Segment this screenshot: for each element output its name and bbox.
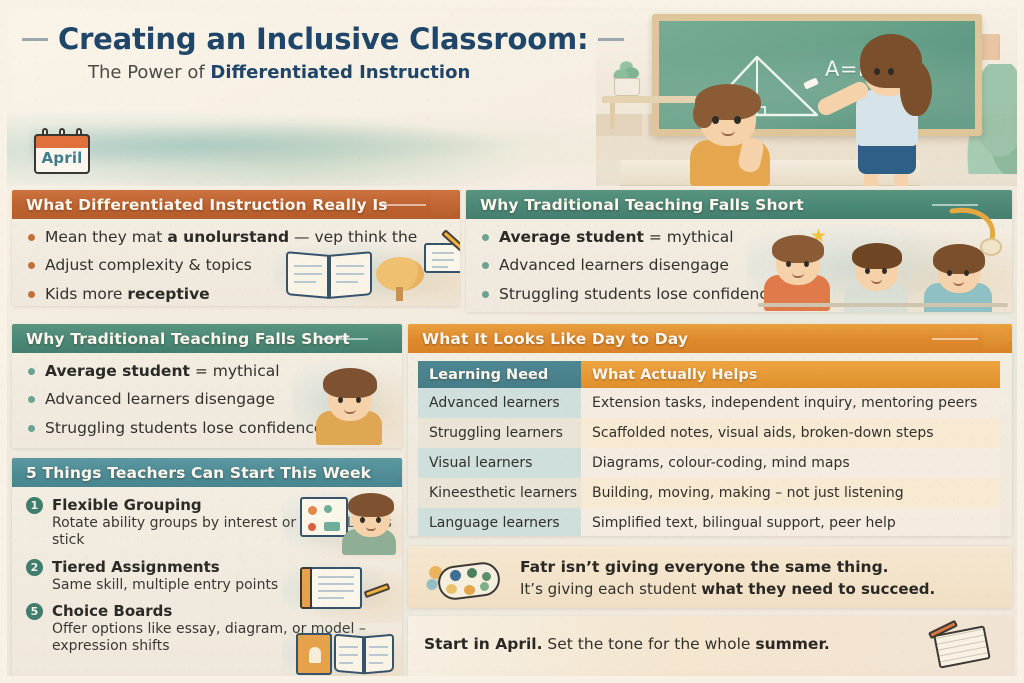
card-why-traditional-top: Why Traditional Teaching Falls Short Ave…: [466, 190, 1012, 312]
bullet-item: Advanced learners disengage: [482, 256, 1012, 274]
step-description: Same skill, multiple entry points: [52, 577, 402, 594]
bullet-item: Kids more receptive: [28, 285, 460, 303]
paint-palette-icon: [426, 558, 504, 602]
header-rule: [380, 204, 426, 206]
cell-learning-need: Language learners: [418, 508, 581, 536]
notebook-pen-icon: [930, 624, 996, 668]
bullet-list-what-di: Mean they mat a unolurstand — vep think …: [12, 219, 460, 303]
bullet-item: Average student = mythical: [28, 362, 402, 380]
cell-what-helps: Diagrams, colour-coding, mind maps: [581, 448, 1000, 478]
card-header-day-to-day: What It Looks Like Day to Day: [408, 324, 1012, 353]
footer-text: Start in April. Set the tone for the who…: [424, 635, 830, 653]
list-item: 2 Tiered Assignments Same skill, multipl…: [26, 558, 402, 594]
shelf-leg: [610, 103, 615, 129]
infographic-page: A=lh: [0, 0, 1024, 683]
table-row: Struggling learners Scaffolded notes, vi…: [418, 418, 1000, 448]
card-body-five-things: 1 Flexible Grouping Rotate ability group…: [12, 487, 402, 676]
header-arrow-icon: [373, 324, 402, 353]
card-header-label: 5 Things Teachers Can Start This Week: [26, 464, 371, 482]
card-header-why-short-top: Why Traditional Teaching Falls Short: [466, 190, 1012, 219]
cell-learning-need: Struggling learners: [418, 418, 581, 448]
bullet-item: Struggling students lose confidence: [28, 419, 402, 437]
step-number-badge: 2: [26, 559, 43, 576]
numbered-list-five-things: 1 Flexible Grouping Rotate ability group…: [12, 487, 402, 655]
cell-learning-need: Visual learners: [418, 448, 581, 478]
card-body-day-to-day: Learning Need What Actually Helps Advanc…: [408, 353, 1012, 536]
bullet-item: Mean they mat a unolurstand — vep think …: [28, 228, 460, 246]
bullet-item: Adjust complexity & topics: [28, 256, 460, 274]
title-rule-left: [22, 38, 48, 41]
quote-line-1: Fatr isn’t giving everyone the same thin…: [520, 558, 889, 576]
table-col-learning-need: Learning Need: [418, 361, 581, 388]
card-body-what-di: Mean they mat a unolurstand — vep think …: [12, 219, 460, 306]
card-body-why-short-left: Average student = mythical Advanced lear…: [12, 353, 402, 448]
calendar-month-label: April: [34, 149, 90, 167]
card-header-what-di: What Differentiated Instruction Really I…: [12, 190, 460, 219]
card-what-differentiated-instruction: What Differentiated Instruction Really I…: [12, 190, 460, 306]
bullet-list-why-short-left: Average student = mythical Advanced lear…: [12, 353, 402, 437]
hero-watercolor-wash-2: [30, 118, 590, 170]
cell-what-helps: Building, moving, making – not just list…: [581, 478, 1000, 508]
footer-panel: Start in April. Set the tone for the who…: [408, 616, 1012, 676]
seated-student-illustration: [682, 82, 778, 186]
card-header-label: What Differentiated Instruction Really I…: [26, 196, 388, 214]
card-header-label: Why Traditional Teaching Falls Short: [480, 196, 804, 214]
classroom-illustration: A=lh: [596, 0, 1024, 186]
step-number-badge: 5: [26, 603, 43, 620]
header-arrow-icon: [431, 190, 460, 219]
header-rule: [322, 338, 368, 340]
bullet-item: Average student = mythical: [482, 228, 1012, 246]
bullet-list-why-short-top: Average student = mythical Advanced lear…: [466, 219, 1012, 303]
header-rule: [932, 338, 978, 340]
list-item: 5 Choice Boards Offer options like essay…: [26, 602, 402, 655]
quote-line-2: It’s giving each student what they need …: [520, 580, 935, 598]
header-arrow-icon: [983, 190, 1012, 219]
step-title: Flexible Grouping: [52, 496, 402, 514]
header-rule: [932, 204, 978, 206]
card-why-traditional-left: Why Traditional Teaching Falls Short Ave…: [12, 324, 402, 448]
step-description: Rotate ability groups by interest or dra…: [52, 515, 402, 549]
card-five-things: 5 Things Teachers Can Start This Week 1 …: [12, 458, 402, 676]
page-subtitle: The Power of Differentiated Instruction: [0, 62, 640, 83]
table-row: Advanced learners Extension tasks, indep…: [418, 388, 1000, 418]
card-header-five-things: 5 Things Teachers Can Start This Week: [12, 458, 402, 487]
cell-learning-need: Kineesthetic learners: [418, 478, 581, 508]
cell-learning-need: Advanced learners: [418, 388, 581, 418]
header-arrow-icon: [983, 324, 1012, 353]
bullet-item: Advanced learners disengage: [28, 390, 402, 408]
list-item: 1 Flexible Grouping Rotate ability group…: [26, 496, 402, 549]
cell-what-helps: Scaffolded notes, visual aids, broken-do…: [581, 418, 1000, 448]
table-col-what-helps: What Actually Helps: [581, 361, 1000, 388]
table-row: Kineesthetic learners Building, moving, …: [418, 478, 1000, 508]
desk-line: [758, 303, 1008, 307]
card-header-label: Why Traditional Teaching Falls Short: [26, 330, 350, 348]
table-row: Language learners Simplified text, bilin…: [418, 508, 1000, 536]
calendar-icon: April: [34, 128, 90, 174]
table-row: Visual learners Diagrams, colour-coding,…: [418, 448, 1000, 478]
title-rule-right: [598, 38, 624, 41]
step-title: Choice Boards: [52, 602, 402, 620]
step-description: Offer options like essay, diagram, or mo…: [52, 621, 402, 655]
header-arrow-icon: [373, 458, 402, 487]
cell-what-helps: Simplified text, bilingual support, peer…: [581, 508, 1000, 536]
step-number-badge: 1: [26, 497, 43, 514]
page-title: Creating an Inclusive Classroom:: [58, 22, 588, 56]
table-header-row: Learning Need What Actually Helps: [418, 361, 1000, 388]
title-block: Creating an Inclusive Classroom: The Pow…: [0, 22, 640, 83]
card-day-to-day: What It Looks Like Day to Day Learning N…: [408, 324, 1012, 536]
card-header-label: What It Looks Like Day to Day: [422, 330, 688, 348]
learning-needs-table: Learning Need What Actually Helps Advanc…: [418, 361, 1000, 536]
quote-panel: Fatr isn’t giving everyone the same thin…: [408, 546, 1012, 608]
card-body-why-short-top: Average student = mythical Advanced lear…: [466, 219, 1012, 312]
step-title: Tiered Assignments: [52, 558, 402, 576]
bullet-item: Struggling students lose confidence: [482, 285, 1012, 303]
cell-what-helps: Extension tasks, independent inquiry, me…: [581, 388, 1000, 418]
student-at-board-illustration: [830, 30, 940, 186]
card-header-why-short-left: Why Traditional Teaching Falls Short: [12, 324, 402, 353]
